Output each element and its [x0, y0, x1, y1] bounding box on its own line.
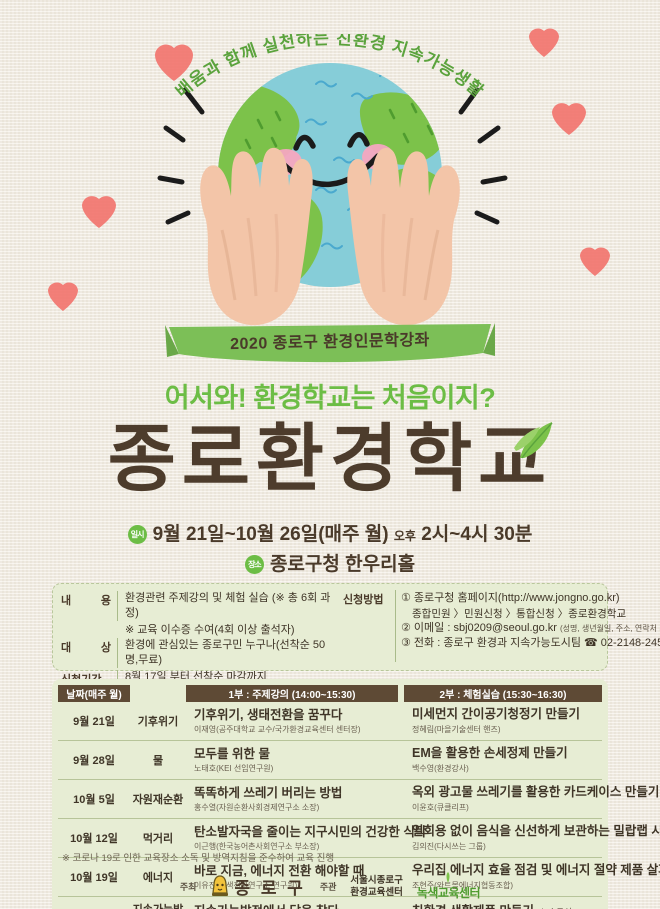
cell-part1: 기후위기, 생태전환을 꿈꾸다 이재영(공주대학교 교수/국가환경교육센터 센터… — [186, 702, 398, 741]
part2-title-text: EM을 활용한 손세정제 만들기 — [412, 746, 568, 760]
part1-title: 탄소발자국을 줄이는 지구시민의 건강한 식탁 — [194, 824, 396, 840]
header-part1: 1부 : 주제강의 (14:00~15:30) — [186, 685, 398, 702]
part2-lecturer: 정혜림(마을기술센터 핸즈) — [412, 724, 600, 735]
part2-title: 미세먼지 간이공기청정기 만들기 — [412, 706, 600, 723]
header-date: 날짜(매주 월) — [58, 685, 130, 702]
table-row: 10월 5일 자원재순환 똑똑하게 쓰레기 버리는 방법 홍수열(자원순환사회경… — [58, 780, 602, 819]
org-name: 서울시종로구 환경교육센터 — [350, 875, 402, 898]
cell-part2: 일회용 없이 음식을 신선하게 보관하는 밀랍랩 시연 및 제공 김의진(다시쓰… — [404, 819, 602, 858]
info-divider — [395, 590, 396, 662]
part2-title: EM을 활용한 손세정제 만들기 — [412, 745, 600, 762]
cell-part2: EM을 활용한 손세정제 만들기 백수영(환경강사) — [404, 741, 602, 780]
info-label-char: 용 — [101, 592, 111, 608]
part2-lecturer: 김의진(다시쓰는 그룹) — [412, 841, 600, 852]
part2-lecturer: 백수영(환경강사) — [412, 763, 600, 774]
host-label: 주최 — [180, 880, 197, 893]
apply-email-text: ② 이메일 : sbj0209@seoul.go.kr — [401, 622, 557, 634]
part2-title: 옥외 광고물 쓰레기를 활용한 카드케이스 만들기 — [412, 784, 600, 801]
green-center-name: 녹색교육센터 — [417, 884, 480, 901]
info-box-right: 신청방법 ① 종로구청 홈페이지(http://www.jongno.go.kr… — [341, 584, 607, 670]
jongno-logo: 종 로 구 — [210, 874, 305, 899]
covid-note: ※ 코로나 19로 인한 교육장소 소독 및 방역지침을 준수하여 교육 진행 — [62, 850, 334, 864]
heart-icon — [529, 29, 559, 57]
sprout-leaf-icon — [512, 418, 556, 462]
header-part2: 2부 : 체험실습 (15:30~16:30) — [404, 685, 602, 702]
part1-title: 기후위기, 생태전환을 꿈꾸다 — [194, 707, 396, 723]
info-box: 내 용 환경관련 주제강의 및 체험 실습 (※ 총 6회 과정) ※ 교육 이… — [52, 583, 608, 671]
cell-topic: 기후위기 — [130, 702, 186, 741]
header-spacer — [130, 685, 186, 702]
event-date-line: 일시9월 21일~10월 26일(매주 월) 오후 2시~4시 30분 — [0, 519, 660, 546]
green-education-center-logo: 녹색교육센터 — [417, 872, 480, 901]
event-place-line: 장소종로구청 한우리홀 — [0, 549, 660, 576]
org-name-line2: 환경교육센터 — [350, 887, 402, 898]
date-badge: 일시 — [128, 525, 147, 544]
apply-method-label: 신청방법 — [343, 591, 395, 607]
info-note-certificate: ※ 교육 이수증 수여(4회 이상 출석자) — [125, 623, 337, 638]
poster-root: 배움과 함께 실천하는 친환경 지속가능생활 2020 종로구 환경인문학강좌 … — [0, 0, 660, 909]
heart-icon — [82, 196, 116, 228]
apply-item-email[interactable]: ② 이메일 : sbj0209@seoul.go.kr (성명, 생년월일, 주… — [401, 621, 601, 637]
table-row: 9월 21일 기후위기 기후위기, 생태전환을 꿈꾸다 이재영(공주대학교 교수… — [58, 702, 602, 741]
info-divider — [117, 638, 118, 668]
part1-title: 똑똑하게 쓰레기 버리는 방법 — [194, 785, 396, 801]
cell-part2: 미세먼지 간이공기청정기 만들기 정혜림(마을기술센터 핸즈) — [404, 702, 602, 741]
part2-title-text: 옥외 광고물 쓰레기를 활용한 카드케이스 만들기 — [412, 785, 659, 799]
schedule-header-row: 날짜(매주 월) 1부 : 주제강의 (14:00~15:30) 2부 : 체험… — [58, 685, 602, 702]
info-label-char: 내 — [61, 592, 71, 608]
footer-sponsors: 주최 종 로 구 주관 서울시종로구 환경교육센터 녹색교육센터 — [0, 872, 660, 901]
apply-email-note: (성명, 생년월일, 주소, 연락처 기재) — [560, 624, 660, 633]
heart-icon — [155, 45, 193, 81]
hero-illustration — [0, 0, 660, 360]
host-name: 종 로 구 — [234, 874, 305, 899]
event-date-text: 9월 21일~10월 26일(매주 월) — [153, 524, 389, 545]
cell-part1: 똑똑하게 쓰레기 버리는 방법 홍수열(자원순환사회경제연구소 소장) — [186, 780, 398, 819]
part2-title: 일회용 없이 음식을 신선하게 보관하는 밀랍랩 시연 및 제공 — [412, 823, 600, 840]
apply-item-website[interactable]: ① 종로구청 홈페이지(http://www.jongno.go.kr) — [401, 591, 601, 607]
apply-item-phone[interactable]: ③ 전화 : 종로구 환경과 지속가능도시팀 ☎ 02-2148-2454 — [401, 636, 601, 652]
apply-item-website-path: 종합민원 〉민원신청 〉통합신청 〉종로환경학교 — [412, 607, 601, 621]
info-label-char: 상 — [101, 639, 111, 655]
heart-icon — [552, 103, 586, 135]
time-prefix: 오후 — [394, 529, 416, 543]
cell-topic: 자원재순환 — [130, 780, 186, 819]
part2-lecturer: 이윤호(큐클리프) — [412, 802, 600, 813]
cell-date: 9월 28일 — [58, 741, 130, 780]
apply-method-list: ① 종로구청 홈페이지(http://www.jongno.go.kr) 종합민… — [401, 591, 601, 652]
part1-title: 모두를 위한 물 — [194, 746, 396, 762]
schedule-head: 날짜(매주 월) 1부 : 주제강의 (14:00~15:30) 2부 : 체험… — [58, 685, 602, 702]
event-place-text: 종로구청 한우리홀 — [270, 554, 415, 575]
part2-title-text: 미세먼지 간이공기청정기 만들기 — [412, 707, 580, 721]
part1-lecturer: 이재영(공주대학교 교수/국가환경교육센터 센터장) — [194, 724, 396, 735]
heart-icon — [48, 283, 78, 311]
jongno-bell-mascot-icon — [210, 875, 230, 899]
info-label-char: 대 — [61, 639, 71, 655]
place-badge: 장소 — [245, 555, 264, 574]
table-row: 9월 28일 물 모두를 위한 물 노태호(KEI 선임연구원) EM을 활용한… — [58, 741, 602, 780]
cell-date: 9월 21일 — [58, 702, 130, 741]
info-divider — [117, 591, 118, 621]
info-box-left: 내 용 환경관련 주제강의 및 체험 실습 (※ 총 6회 과정) ※ 교육 이… — [53, 584, 341, 670]
part1-lecturer: 노태호(KEI 선임연구원) — [194, 763, 396, 774]
poster-subtitle: 어서와! 환경학교는 처음이지? — [0, 376, 660, 415]
green-book-leaf-icon — [435, 872, 461, 884]
org-label: 주관 — [320, 880, 337, 893]
org-name-line1: 서울시종로구 — [350, 875, 402, 886]
info-row-content: 내 용 환경관련 주제강의 및 체험 실습 (※ 총 6회 과정) — [61, 591, 337, 621]
info-value-content: 환경관련 주제강의 및 체험 실습 (※ 총 6회 과정) — [125, 591, 337, 621]
info-label-content: 내 용 — [61, 591, 117, 608]
cell-topic: 물 — [130, 741, 186, 780]
heart-icon — [580, 248, 610, 276]
info-row-target: 대 상 환경에 관심있는 종로구민 누구나(선착순 50명,무료) — [61, 638, 337, 668]
part2-title-text: 친환경 생활제품 만들기 — [412, 904, 534, 909]
part2-title-text: 일회용 없이 음식을 신선하게 보관하는 밀랍랩 시연 및 제공 — [412, 824, 660, 838]
cell-date: 10월 5일 — [58, 780, 130, 819]
event-time-text: 2시~4시 30분 — [421, 524, 532, 545]
part1-title: 지속가능발전에서 답을 찾다 — [194, 903, 396, 909]
part2-title: 친환경 생활제품 만들기※ 수료식 — [412, 903, 600, 909]
poster-main-title: 종로환경학교 — [0, 414, 660, 504]
part1-lecturer: 홍수열(자원순환사회경제연구소 소장) — [194, 802, 396, 813]
cell-part2: 옥외 광고물 쓰레기를 활용한 카드케이스 만들기 이윤호(큐클리프) — [404, 780, 602, 819]
info-label-target: 대 상 — [61, 638, 117, 655]
info-value-target: 환경에 관심있는 종로구민 누구나(선착순 50명,무료) — [125, 638, 337, 668]
cell-part1: 모두를 위한 물 노태호(KEI 선임연구원) — [186, 741, 398, 780]
